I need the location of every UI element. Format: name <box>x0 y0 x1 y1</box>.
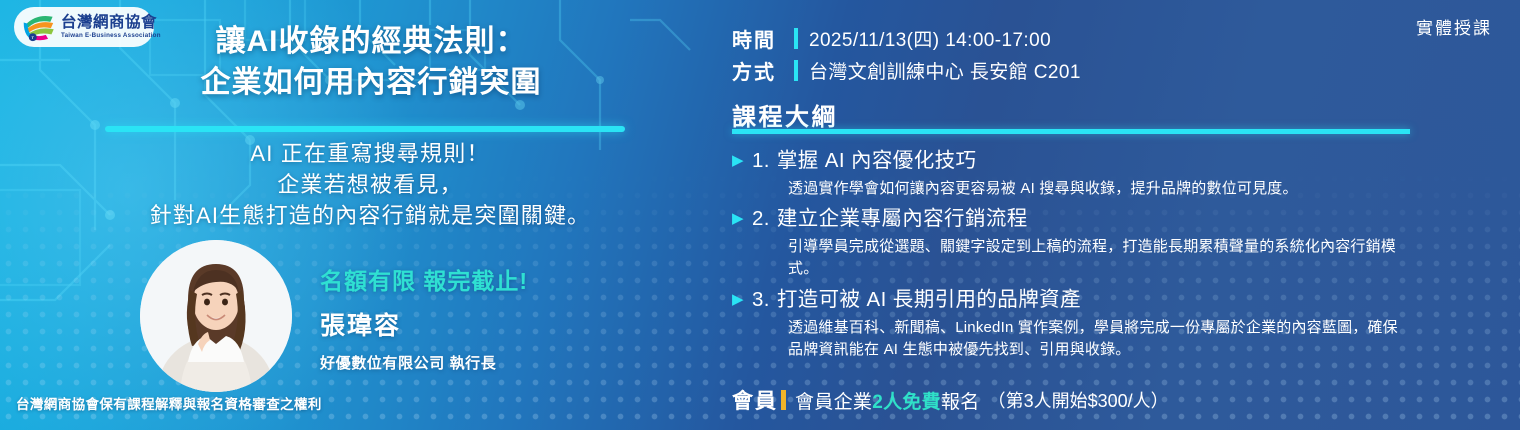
member-value-post: 報名 <box>941 392 980 413</box>
meta-key-venue: 方式 <box>732 56 792 85</box>
meta-row-venue: 方式 台灣文創訓練中心 長安館 C201 <box>732 54 1081 86</box>
hero-subtitle-line1: AI 正在重寫搜尋規則！ <box>40 138 700 169</box>
seat-limit-note: 名額有限 報完截止! <box>320 262 680 296</box>
member-extra-fee-note: （第3人開始$300/人） <box>988 387 1169 413</box>
speaker-name: 張瑋容 <box>320 306 680 342</box>
disclaimer-text: 台灣網商協會保有課程解釋與報名資格審查之權利 <box>16 393 322 413</box>
speaker-title: 好優數位有限公司 執行長 <box>320 352 680 373</box>
course-promo-banner: T 台灣網商協會 Taiwan E-Business Association 讓… <box>0 0 1520 430</box>
outline-item-title: 掌握 AI 內容優化技巧 <box>777 146 977 176</box>
outline-item-desc: 透過實作學會如何讓內容更容易被 AI 搜尋與收錄，提升品牌的數位可見度。 <box>788 178 1403 201</box>
course-meta: 時間 2025/11/13(四) 14:00-17:00 方式 台灣文創訓練中心… <box>732 22 1081 86</box>
outline-item-head: ▶ 2. 建立企業專屬內容行銷流程 <box>732 204 1422 234</box>
triangle-right-icon: ▶ <box>732 146 744 175</box>
outline-item-desc: 透過維基百科、新聞稿、LinkedIn 實作案例，學員將完成一份專屬於企業的內容… <box>788 317 1403 362</box>
meta-separator-icon <box>794 60 798 81</box>
member-value-highlight: 2人免費 <box>872 392 941 413</box>
right-panel: 實體授課 時間 2025/11/13(四) 14:00-17:00 方式 台灣文… <box>700 0 1520 430</box>
speaker-info: 名額有限 報完截止! 張瑋容 好優數位有限公司 執行長 <box>320 262 680 373</box>
triangle-right-icon: ▶ <box>732 204 744 233</box>
triangle-right-icon: ▶ <box>732 285 744 314</box>
member-value: 會員企業2人免費報名 <box>795 387 980 414</box>
speaker-photo-illustration <box>140 240 292 392</box>
outline-item-number: 2. <box>752 204 770 234</box>
member-label: 會員 <box>732 385 778 415</box>
outline-item-desc: 引導學員完成從選題、關鍵字設定到上稿的流程，打造能長期累積聲量的系統化內容行銷模… <box>788 236 1403 281</box>
outline-item-number: 3. <box>752 285 770 315</box>
outline-item-head: ▶ 3. 打造可被 AI 長期引用的品牌資產 <box>732 285 1422 315</box>
outline-item-number: 1. <box>752 146 770 176</box>
outline-item: ▶ 3. 打造可被 AI 長期引用的品牌資產 透過維基百科、新聞稿、Linked… <box>732 285 1422 362</box>
hero-subtitle: AI 正在重寫搜尋規則！ 企業若想被看見， 針對AI生態打造的內容行銷就是突圍關… <box>0 138 700 232</box>
speaker-photo <box>140 240 292 392</box>
outline-item-head: ▶ 1. 掌握 AI 內容優化技巧 <box>732 146 1422 176</box>
meta-value-venue: 台灣文創訓練中心 長安館 C201 <box>809 57 1081 84</box>
member-value-pre: 會員企業 <box>795 392 872 413</box>
member-separator-icon <box>781 390 786 410</box>
meta-row-time: 時間 2025/11/13(四) 14:00-17:00 <box>732 22 1081 54</box>
hero-title-line2: 企業如何用內容行銷突圍 <box>42 63 700 104</box>
hero-subtitle-line2: 企業若想被看見， <box>40 169 700 200</box>
hero-subtitle-line3: 針對AI生態打造的內容行銷就是突圍關鍵。 <box>40 200 700 231</box>
outline-list: ▶ 1. 掌握 AI 內容優化技巧 透過實作學會如何讓內容更容易被 AI 搜尋與… <box>732 146 1422 366</box>
member-pricing-row: 會員 會員企業2人免費報名 （第3人開始$300/人） <box>732 385 1169 415</box>
outline-item-title: 建立企業專屬內容行銷流程 <box>777 204 1028 234</box>
outline-divider <box>732 129 1410 134</box>
meta-value-time: 2025/11/13(四) 14:00-17:00 <box>809 25 1051 52</box>
hero-title: 讓AI收錄的經典法則： 企業如何用內容行銷突圍 <box>0 22 700 104</box>
delivery-mode-badge: 實體授課 <box>1416 14 1492 39</box>
outline-heading: 課程大綱 <box>732 97 838 132</box>
hero-divider <box>105 126 625 132</box>
meta-key-time: 時間 <box>732 24 792 53</box>
hero-title-line1: 讓AI收錄的經典法則： <box>42 22 700 63</box>
outline-item-title: 打造可被 AI 長期引用的品牌資產 <box>777 285 1081 315</box>
outline-item: ▶ 2. 建立企業專屬內容行銷流程 引導學員完成從選題、關鍵字設定到上稿的流程，… <box>732 204 1422 281</box>
meta-separator-icon <box>794 28 798 49</box>
left-panel: T 台灣網商協會 Taiwan E-Business Association 讓… <box>0 0 700 430</box>
outline-item: ▶ 1. 掌握 AI 內容優化技巧 透過實作學會如何讓內容更容易被 AI 搜尋與… <box>732 146 1422 200</box>
